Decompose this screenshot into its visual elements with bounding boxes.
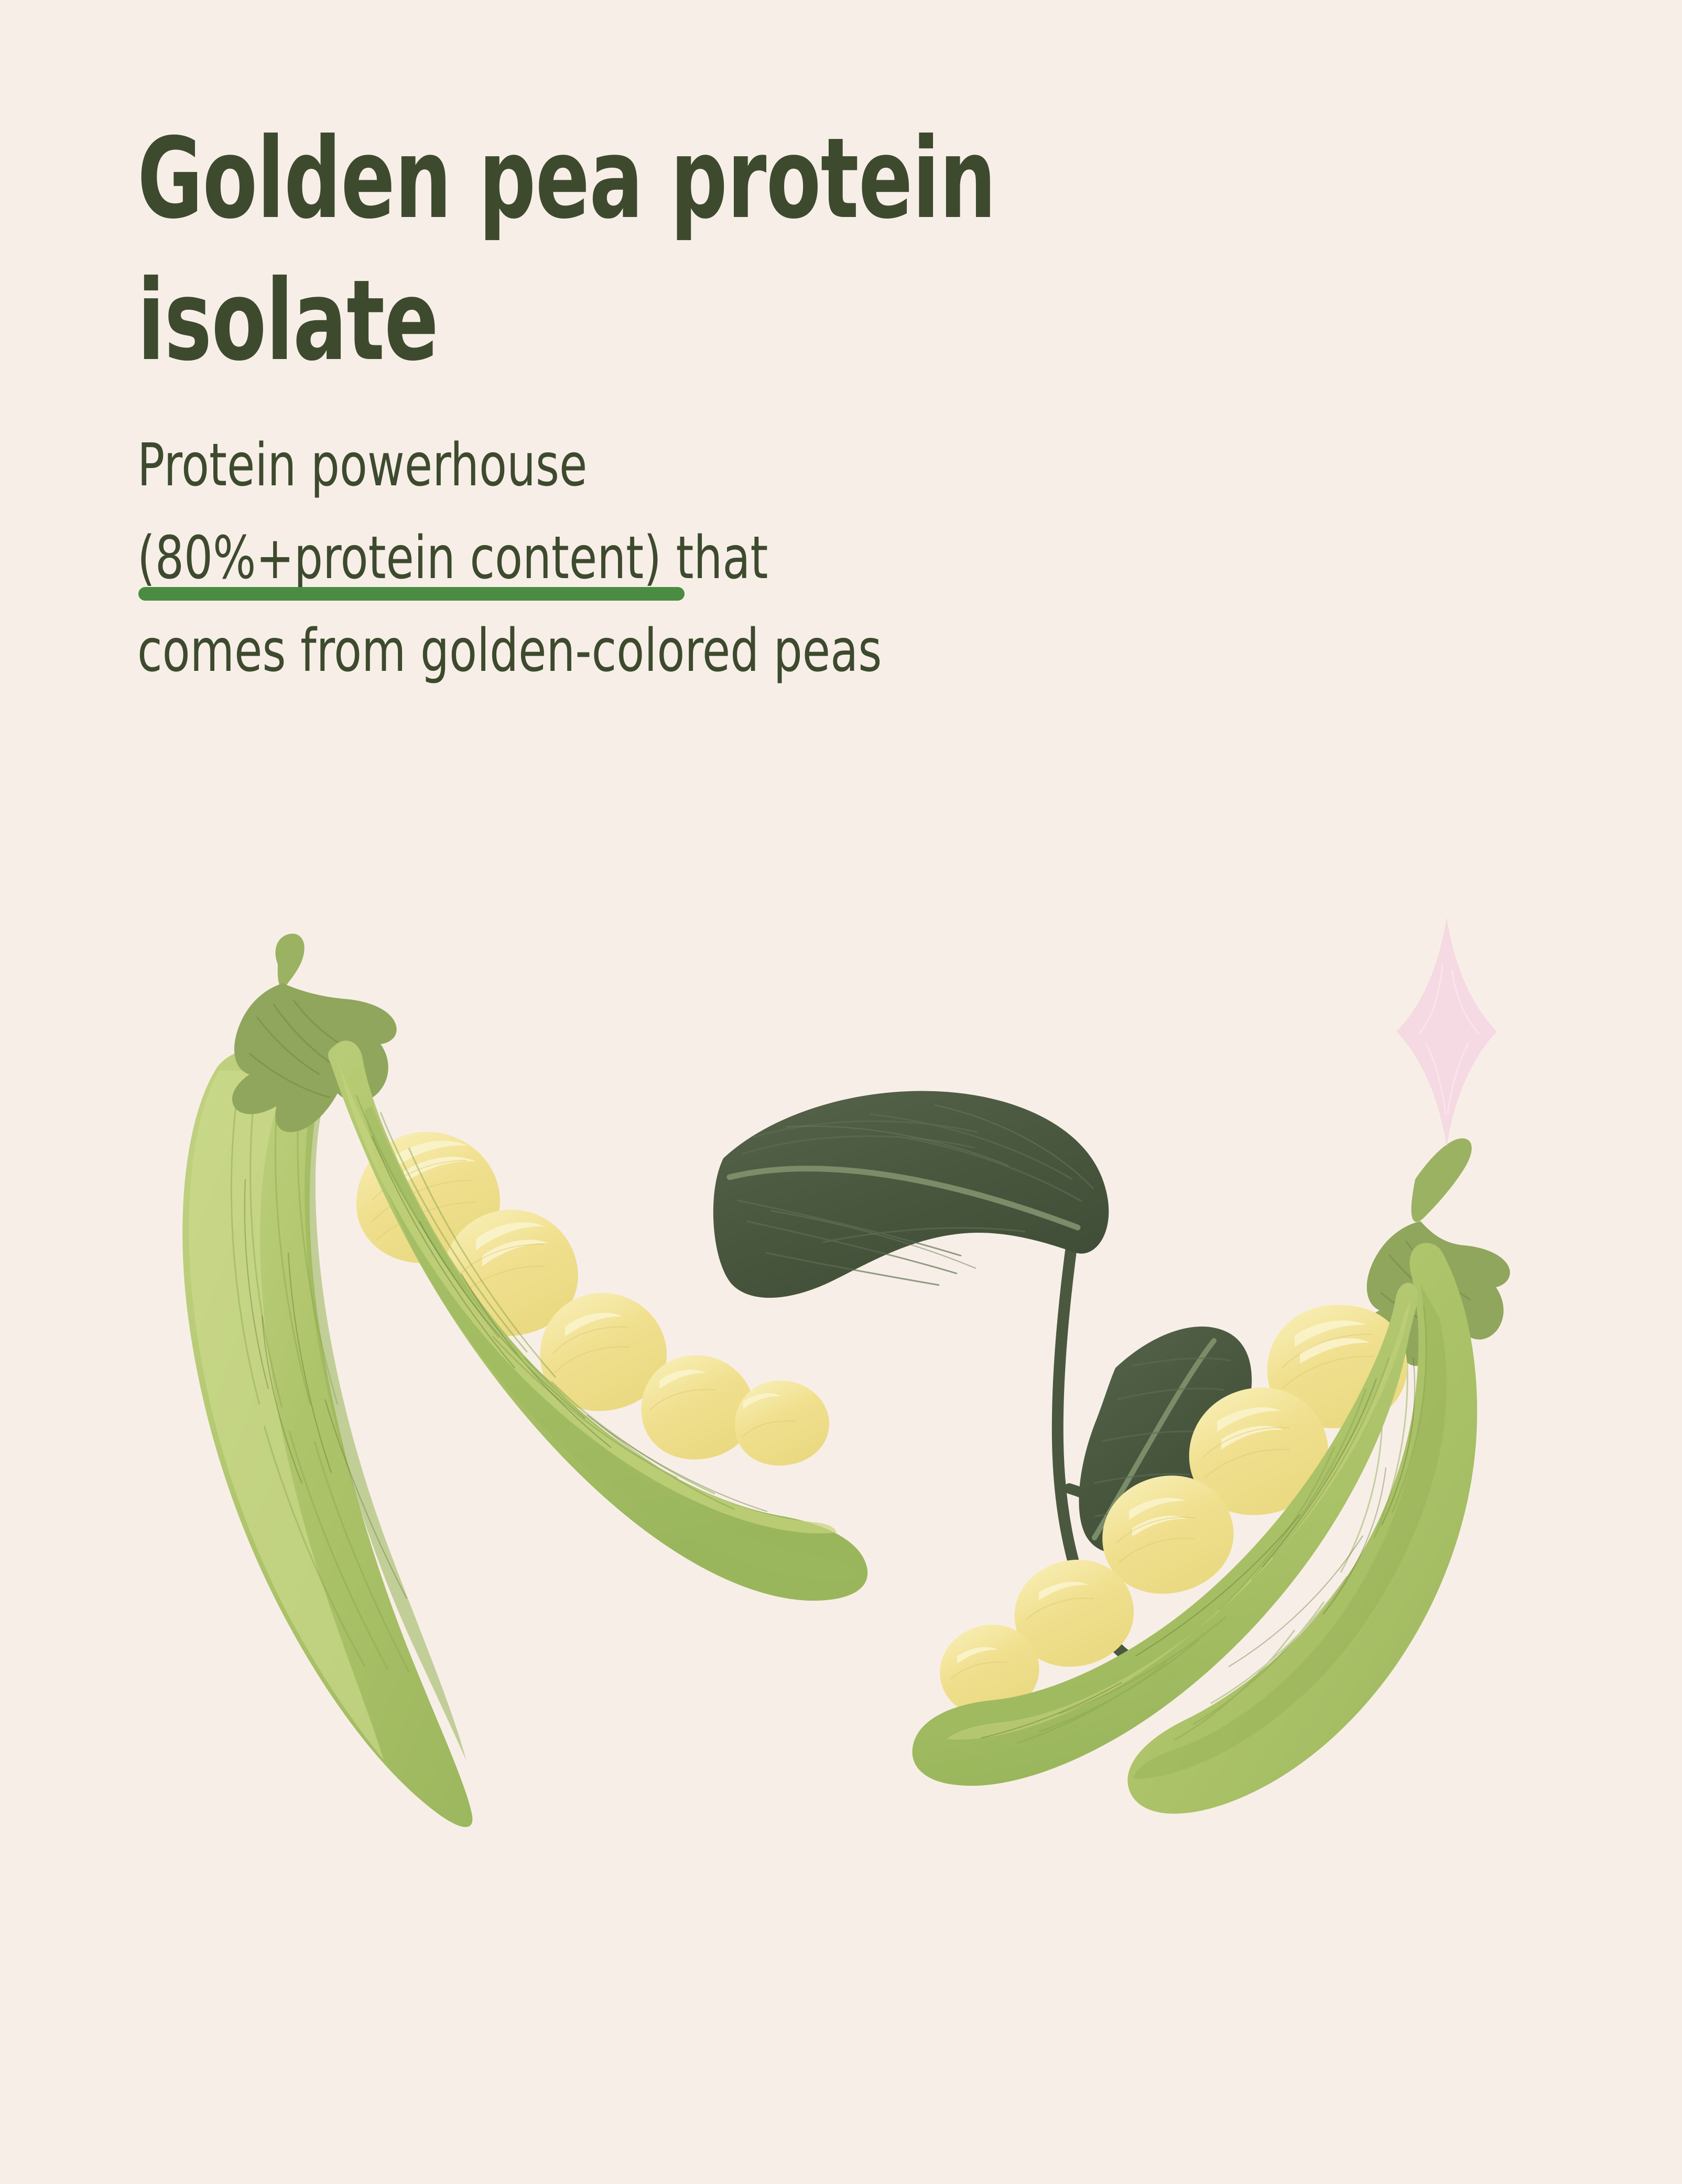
subtitle-wrap: Protein powerhouse (80%+protein content)… [137,419,1553,698]
leaf-upper-large [713,1091,1109,1298]
page-subtitle: Protein powerhouse (80%+protein content)… [137,419,1354,698]
illustration-svg [126,886,1593,2039]
text-block: Golden pea protein isolate Protein power… [137,107,1553,698]
golden-pea-pods-illustration [126,886,1593,2039]
poster-page: Golden pea protein isolate Protein power… [0,0,1682,2184]
page-title: Golden pea protein isolate [137,107,1269,392]
accent-underline [138,587,685,601]
sparkle-diamond-icon [1396,917,1497,1147]
pea-pod-right-open [913,1138,1510,1814]
pea [735,1381,829,1465]
